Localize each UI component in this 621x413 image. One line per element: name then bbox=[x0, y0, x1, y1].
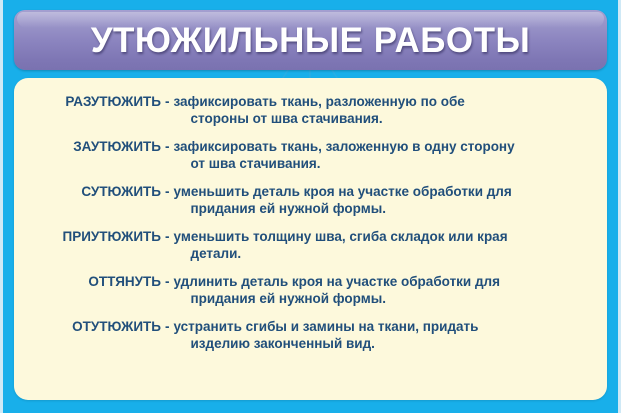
definition-text-line1: устранить сгибы и замины на ткани, прида… bbox=[174, 319, 479, 334]
definition-row: ОТУТЮЖИТЬ - устранить сгибы и замины на … bbox=[24, 318, 597, 352]
definition-text-line2: от шва стачивания. bbox=[174, 155, 598, 172]
definition-term: ОТТЯНУТЬ bbox=[24, 273, 161, 290]
definition-text: удлинить деталь кроя на участке обработк… bbox=[174, 273, 598, 307]
definition-separator: - bbox=[161, 183, 174, 200]
definitions-list: РАЗУТЮЖИТЬ - зафиксировать ткань, разлож… bbox=[24, 93, 597, 352]
definition-row: РАЗУТЮЖИТЬ - зафиксировать ткань, разлож… bbox=[24, 93, 597, 127]
definition-row: ПРИУТЮЖИТЬ - уменьшить толщину шва, сгиб… bbox=[24, 228, 597, 262]
definition-text-line2: детали. bbox=[174, 245, 598, 262]
definitions-card: РАЗУТЮЖИТЬ - зафиксировать ткань, разлож… bbox=[14, 78, 607, 400]
definition-text: устранить сгибы и замины на ткани, прида… bbox=[174, 318, 598, 352]
definition-row: ЗАУТЮЖИТЬ - зафиксировать ткань, заложен… bbox=[24, 138, 597, 172]
definition-text-line2: придания ей нужной формы. bbox=[174, 290, 598, 307]
definition-row: СУТЮЖИТЬ - уменьшить деталь кроя на учас… bbox=[24, 183, 597, 217]
definition-text: уменьшить деталь кроя на участке обработ… bbox=[174, 183, 598, 217]
definition-separator: - bbox=[161, 138, 174, 155]
definition-text-line1: зафиксировать ткань, заложенную в одну с… bbox=[174, 139, 515, 154]
definition-text: уменьшить толщину шва, сгиба складок или… bbox=[174, 228, 598, 262]
poster-root: Ф Е Д Е Р А Л Ь Н Ы Й Ц Е Н Т Р УТЮЖИЛЬН… bbox=[0, 0, 621, 413]
definition-term: СУТЮЖИТЬ bbox=[24, 183, 161, 200]
definition-separator: - bbox=[161, 228, 174, 245]
definition-term: РАЗУТЮЖИТЬ bbox=[24, 93, 161, 110]
definition-text-line2: изделию законченный вид. bbox=[174, 335, 598, 352]
definition-text-line2: стороны от шва стачивания. bbox=[174, 110, 598, 127]
definition-text: зафиксировать ткань, разложенную по обе … bbox=[174, 93, 598, 127]
definition-separator: - bbox=[161, 318, 174, 335]
poster-title-bar: УТЮЖИЛЬНЫЕ РАБОТЫ bbox=[14, 10, 607, 70]
definition-separator: - bbox=[161, 93, 174, 110]
definition-text-line1: зафиксировать ткань, разложенную по обе bbox=[174, 94, 465, 109]
definition-term: ПРИУТЮЖИТЬ bbox=[24, 228, 161, 245]
definition-text: зафиксировать ткань, заложенную в одну с… bbox=[174, 138, 598, 172]
definition-term: ЗАУТЮЖИТЬ bbox=[24, 138, 161, 155]
left-edge-strip bbox=[0, 0, 3, 413]
definition-text-line2: придания ей нужной формы. bbox=[174, 200, 598, 217]
definition-text-line1: уменьшить толщину шва, сгиба складок или… bbox=[174, 229, 508, 244]
definition-text-line1: удлинить деталь кроя на участке обработк… bbox=[174, 274, 501, 289]
definition-row: ОТТЯНУТЬ - удлинить деталь кроя на участ… bbox=[24, 273, 597, 307]
page-title: УТЮЖИЛЬНЫЕ РАБОТЫ bbox=[91, 23, 531, 58]
definition-term: ОТУТЮЖИТЬ bbox=[24, 318, 161, 335]
definition-text-line1: уменьшить деталь кроя на участке обработ… bbox=[174, 184, 512, 199]
definition-separator: - bbox=[161, 273, 174, 290]
